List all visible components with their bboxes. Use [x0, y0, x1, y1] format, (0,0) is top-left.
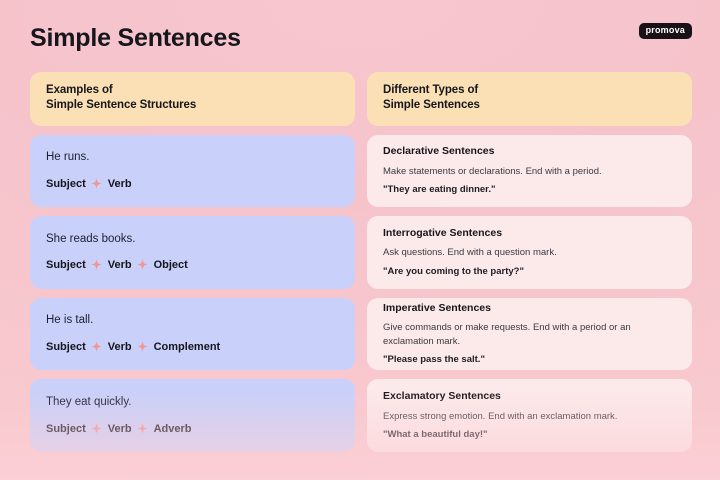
plus-icon — [86, 423, 108, 435]
structure-part: Verb — [108, 259, 132, 271]
type-card-title: Declarative Sentences — [383, 145, 676, 158]
structure-card[interactable]: He runs. Subject Verb — [30, 135, 355, 208]
type-card-example: "Please pass the salt." — [383, 354, 676, 366]
structure-part: Verb — [108, 423, 132, 435]
type-card-title: Interrogative Sentences — [383, 227, 676, 240]
structure-part: Object — [154, 259, 188, 271]
structure-example-sentence: She reads books. — [46, 233, 339, 247]
structure-card[interactable]: They eat quickly. Subject Verb Adverb — [30, 379, 355, 452]
structure-part: Complement — [154, 341, 221, 353]
type-card[interactable]: Imperative Sentences Give commands or ma… — [367, 298, 692, 371]
structure-part: Verb — [108, 178, 132, 190]
structure-part: Verb — [108, 341, 132, 353]
right-header-line-2: Simple Sentences — [383, 98, 676, 113]
poster-header: Simple Sentences promova — [30, 18, 692, 58]
type-card-example: "Are you coming to the party?" — [383, 266, 676, 278]
structure-formula: Subject Verb Complement — [46, 341, 339, 353]
plus-icon — [86, 259, 108, 271]
type-card-title: Exclamatory Sentences — [383, 390, 676, 403]
type-card[interactable]: Declarative Sentences Make statements or… — [367, 135, 692, 208]
structure-formula: Subject Verb — [46, 178, 339, 190]
left-column-header: Examples of Simple Sentence Structures — [30, 72, 355, 126]
left-column-structures: Examples of Simple Sentence Structures H… — [30, 72, 355, 452]
structure-part: Adverb — [154, 423, 192, 435]
left-header-line-1: Examples of — [46, 83, 339, 98]
structure-card-list: He runs. Subject Verb She reads books. S… — [30, 135, 355, 452]
structure-part: Subject — [46, 178, 86, 190]
plus-icon — [132, 259, 154, 271]
type-card-description: Express strong emotion. End with an excl… — [383, 410, 676, 423]
poster-canvas: Simple Sentences promova Examples of Sim… — [0, 0, 720, 480]
type-card-description: Make statements or declarations. End wit… — [383, 165, 676, 178]
structure-example-sentence: He runs. — [46, 151, 339, 165]
structure-part: Subject — [46, 259, 86, 271]
structure-formula: Subject Verb Adverb — [46, 423, 339, 435]
structure-card[interactable]: She reads books. Subject Verb Object — [30, 216, 355, 289]
type-card-example: "What a beautiful day!" — [383, 429, 676, 441]
structure-part: Subject — [46, 341, 86, 353]
right-header-line-1: Different Types of — [383, 83, 676, 98]
structure-part: Subject — [46, 423, 86, 435]
plus-icon — [86, 341, 108, 353]
structure-example-sentence: He is tall. — [46, 314, 339, 328]
left-header-line-2: Simple Sentence Structures — [46, 98, 339, 113]
plus-icon — [86, 178, 108, 190]
type-card-description: Give commands or make requests. End with… — [383, 321, 676, 348]
type-card[interactable]: Interrogative Sentences Ask questions. E… — [367, 216, 692, 289]
type-card-list: Declarative Sentences Make statements or… — [367, 135, 692, 452]
structure-card[interactable]: He is tall. Subject Verb Complement — [30, 298, 355, 371]
plus-icon — [132, 341, 154, 353]
content-columns: Examples of Simple Sentence Structures H… — [30, 72, 692, 452]
structure-example-sentence: They eat quickly. — [46, 396, 339, 410]
promova-logo: promova — [639, 23, 692, 39]
page-title: Simple Sentences — [30, 24, 241, 53]
type-card-example: "They are eating dinner." — [383, 184, 676, 196]
type-card[interactable]: Exclamatory Sentences Express strong emo… — [367, 379, 692, 452]
plus-icon — [132, 423, 154, 435]
type-card-title: Imperative Sentences — [383, 302, 676, 315]
structure-formula: Subject Verb Object — [46, 259, 339, 271]
right-column-header: Different Types of Simple Sentences — [367, 72, 692, 126]
type-card-description: Ask questions. End with a question mark. — [383, 246, 676, 259]
right-column-types: Different Types of Simple Sentences Decl… — [367, 72, 692, 452]
